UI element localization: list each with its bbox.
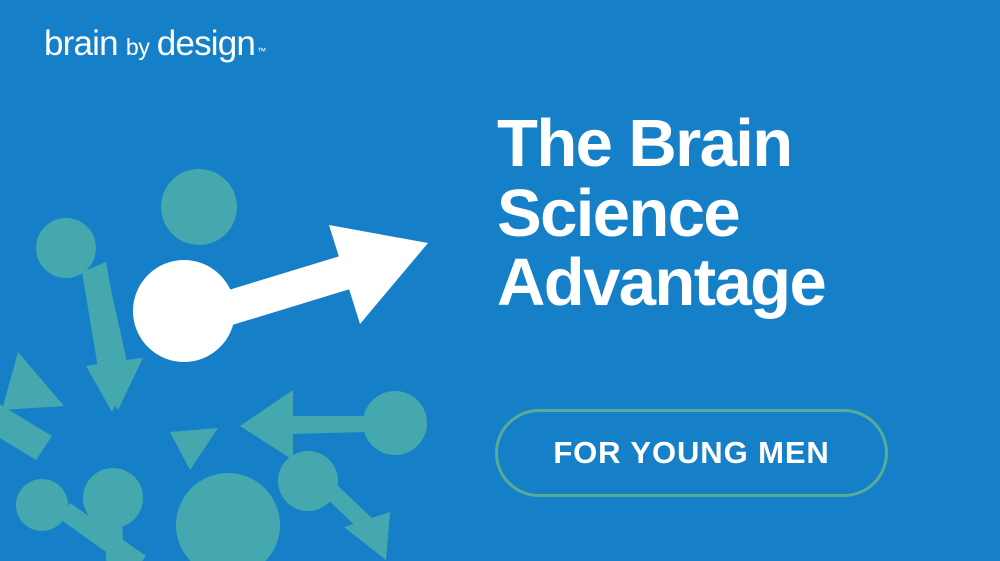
teal-circle-down-right-arrow-icon	[278, 451, 390, 560]
brand-logo[interactable]: brain by design ™	[44, 26, 266, 61]
teal-circle-icon	[161, 169, 237, 245]
headline-line-1: The Brain	[497, 109, 967, 179]
teal-circle-stem-mid-icon	[83, 468, 143, 561]
for-young-men-button[interactable]: FOR YOUNG MEN	[495, 409, 888, 497]
teal-triangle-icon	[170, 428, 218, 470]
trademark-mark: ™	[257, 47, 266, 56]
logo-word-brain: brain	[44, 26, 118, 61]
decorative-graphics	[0, 0, 470, 561]
cta-button-label: FOR YOUNG MEN	[553, 435, 829, 471]
white-circle-arrow-icon	[133, 225, 428, 362]
teal-arrow-up-right-icon	[0, 352, 64, 460]
page-title: The Brain Science Advantage	[497, 109, 967, 318]
headline-line-3: Advantage	[497, 248, 967, 318]
teal-circle-large-icon	[176, 473, 280, 561]
teal-circle-left-arrow-icon	[240, 390, 427, 460]
promo-banner: brain by design ™ The Brain Science Adva…	[0, 0, 1000, 561]
logo-word-by: by	[126, 36, 150, 59]
headline-line-2: Science	[497, 179, 967, 249]
logo-word-design: design	[157, 26, 255, 61]
